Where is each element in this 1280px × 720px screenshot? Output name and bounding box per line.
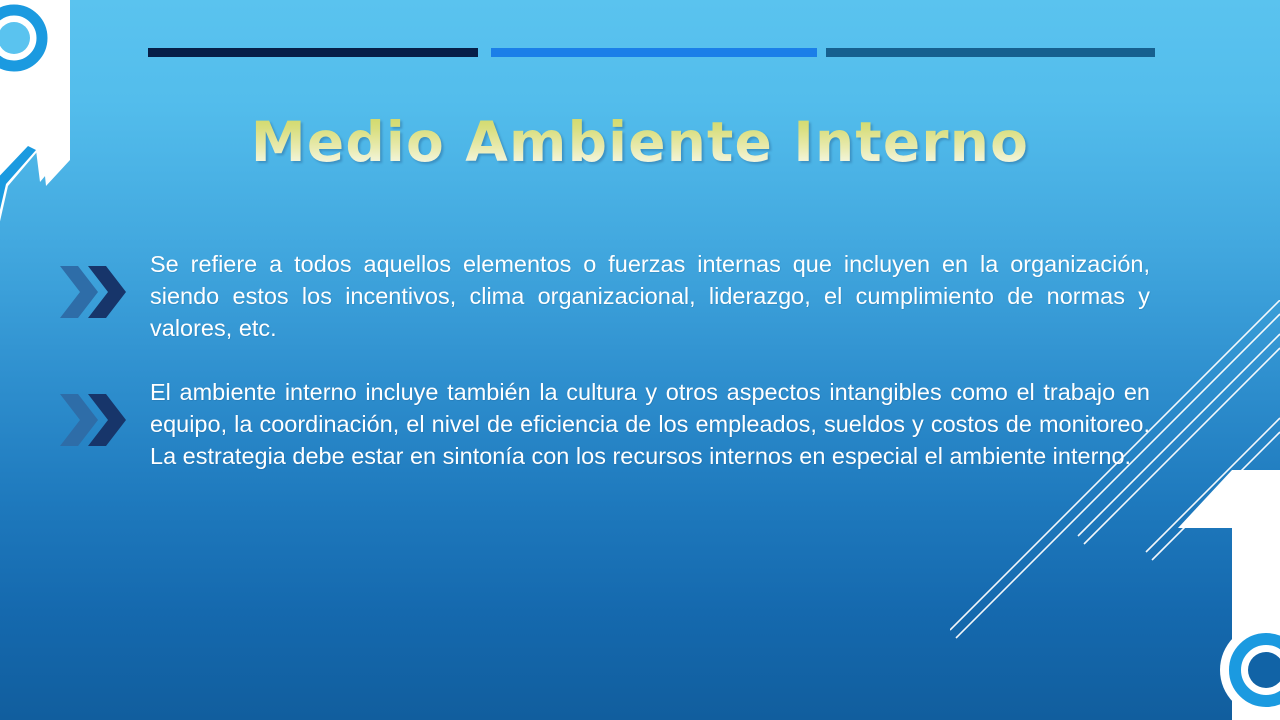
right-pin-decoration <box>1140 470 1280 720</box>
bullet-chevron-icon-1 <box>58 264 128 320</box>
bullet-paragraph-2: El ambiente interno incluye también la c… <box>150 376 1150 472</box>
top-bar-dark-navy <box>148 48 478 57</box>
top-bar-steel-blue <box>826 48 1155 57</box>
bullet-text-2: El ambiente interno incluye también la c… <box>150 376 1150 472</box>
diagonal-lines-decoration <box>950 300 1280 660</box>
bullet-chevron-icon-2 <box>58 392 128 448</box>
slide-canvas: Medio Ambiente Interno Se refiere a todo… <box>0 0 1280 720</box>
bullet-paragraph-1: Se refiere a todos aquellos elementos o … <box>150 248 1150 344</box>
page-title: Medio Ambiente Interno <box>251 110 1029 174</box>
left-ring-icon <box>0 0 54 78</box>
title-container: Medio Ambiente Interno <box>0 110 1280 174</box>
right-ring-icon <box>1220 624 1280 716</box>
top-bar-bright-blue <box>491 48 817 57</box>
bullet-text-1: Se refiere a todos aquellos elementos o … <box>150 248 1150 344</box>
